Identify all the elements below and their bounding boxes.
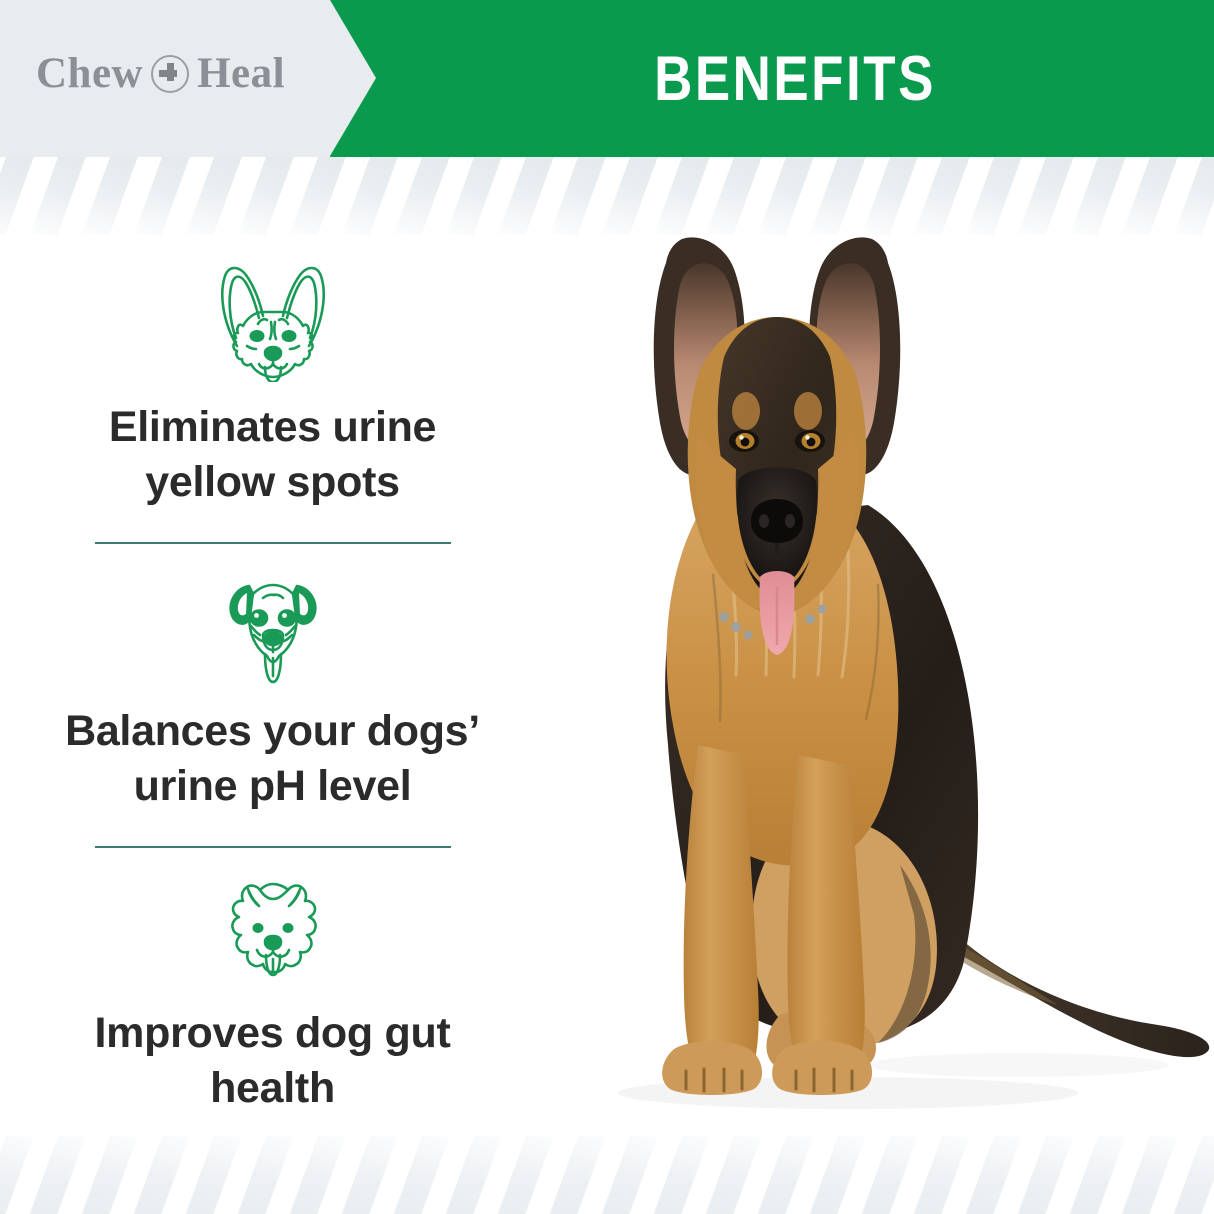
diagonal-stripe	[600, 157, 661, 235]
diagonal-stripe	[1120, 1136, 1181, 1214]
diagonal-stripe	[652, 157, 713, 235]
diagonal-stripe	[808, 1136, 869, 1214]
diagonal-stripe	[1172, 1136, 1214, 1214]
diagonal-stripe	[808, 157, 869, 235]
stripe-band-bottom	[0, 1136, 1214, 1214]
diagonal-stripe	[340, 157, 401, 235]
diagonal-stripe	[548, 1136, 609, 1214]
diagonal-stripe	[236, 1136, 297, 1214]
diagonal-stripe	[444, 1136, 505, 1214]
diagonal-stripe	[496, 157, 557, 235]
stripe-band-top	[0, 157, 1214, 235]
diagonal-stripe	[548, 157, 609, 235]
diagonal-stripe	[912, 1136, 973, 1214]
diagonal-stripe	[1120, 157, 1181, 235]
header-chevron-icon	[330, 0, 376, 157]
diagonal-stripe	[288, 157, 349, 235]
benefit-item: Improves dog gut health	[0, 876, 545, 1116]
benefit-label: Improves dog gut health	[0, 1006, 545, 1116]
diagonal-stripe	[0, 157, 37, 235]
diagonal-stripe	[28, 1136, 89, 1214]
header-banner: Chew Heal BENEFITS	[0, 0, 1214, 157]
benefits-infographic: Chew Heal BENEFITS	[0, 0, 1214, 1214]
diagonal-stripe	[392, 157, 453, 235]
benefit-item: Balances your dogs’ urine pH level	[0, 574, 545, 848]
diagonal-stripe	[132, 1136, 193, 1214]
diagonal-stripe	[340, 1136, 401, 1214]
diagonal-stripe	[1172, 157, 1214, 235]
diagonal-stripe	[132, 157, 193, 235]
diagonal-stripe	[28, 157, 89, 235]
diagonal-stripe	[184, 157, 245, 235]
plus-in-circle-icon	[151, 55, 189, 93]
diagonal-stripe	[1068, 157, 1129, 235]
brand-logo: Chew Heal	[36, 52, 285, 95]
diagonal-stripe	[0, 1136, 37, 1214]
fluffy-dog-face-icon	[0, 876, 545, 988]
diagonal-stripe	[496, 1136, 557, 1214]
benefit-label: Balances your dogs’ urine pH level	[0, 704, 545, 814]
diagonal-stripe	[392, 1136, 453, 1214]
diagonal-stripe	[80, 1136, 141, 1214]
corgi-dog-face-icon	[0, 250, 545, 382]
diagonal-stripe	[964, 157, 1025, 235]
terrier-dog-face-icon	[0, 574, 545, 686]
page-title: BENEFITS	[443, 0, 1147, 157]
diagonal-stripe	[184, 1136, 245, 1214]
brand-name-heal: Heal	[197, 52, 285, 95]
diagonal-stripe	[444, 157, 505, 235]
diagonal-stripe	[964, 1136, 1025, 1214]
brand-name-chew: Chew	[36, 52, 143, 95]
diagonal-stripe	[860, 1136, 921, 1214]
diagonal-stripe	[860, 157, 921, 235]
diagonal-stripe	[756, 1136, 817, 1214]
diagonal-stripe	[1016, 157, 1077, 235]
diagonal-stripe	[600, 1136, 661, 1214]
benefit-label: Eliminates urine yellow spots	[0, 400, 545, 510]
benefits-list: Eliminates urine yellow spots	[0, 250, 545, 1116]
diagonal-stripe	[704, 1136, 765, 1214]
diagonal-stripe	[704, 157, 765, 235]
diagonal-stripe	[236, 157, 297, 235]
diagonal-stripe	[652, 1136, 713, 1214]
diagonal-stripe	[288, 1136, 349, 1214]
benefit-divider	[95, 846, 451, 848]
diagonal-stripe	[1068, 1136, 1129, 1214]
diagonal-stripe	[756, 157, 817, 235]
diagonal-stripe	[912, 157, 973, 235]
german-shepherd-sitting-photo	[548, 225, 1214, 1125]
diagonal-stripe	[1016, 1136, 1077, 1214]
benefit-divider	[95, 542, 451, 544]
benefit-item: Eliminates urine yellow spots	[0, 250, 545, 544]
diagonal-stripe	[80, 157, 141, 235]
